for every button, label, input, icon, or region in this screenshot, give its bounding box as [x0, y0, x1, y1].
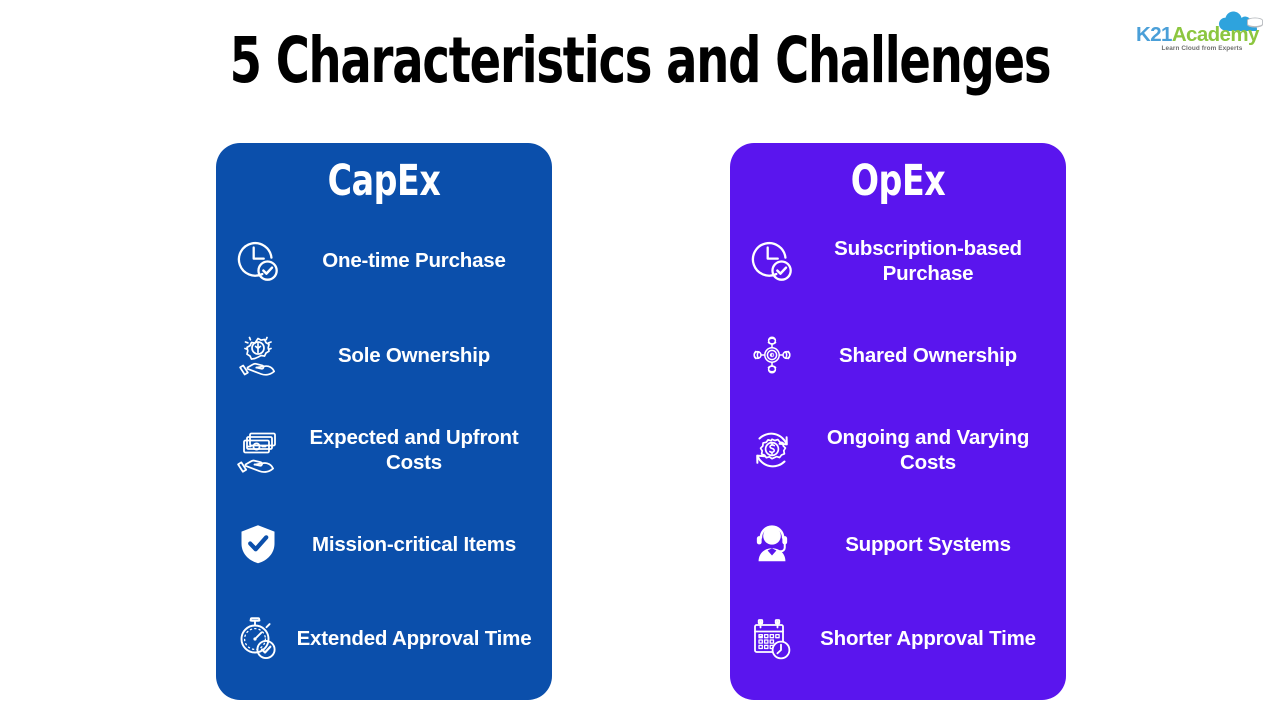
clock-check-icon: [746, 235, 798, 287]
hand-money-icon: [232, 424, 284, 476]
feature-label: One-time Purchase: [296, 248, 536, 273]
feature-row: One-time Purchase: [232, 233, 536, 289]
feature-label: Shared Ownership: [810, 343, 1050, 368]
feature-label: Extended Approval Time: [296, 626, 536, 651]
feature-label: Mission-critical Items: [296, 532, 536, 557]
share-network-icon: [746, 329, 798, 381]
card-opex: OpEx Subscription-based Purchase: [730, 143, 1066, 700]
feature-row: Support Systems: [746, 516, 1050, 572]
feature-row: Shorter Approval Time: [746, 611, 1050, 667]
support-agent-icon: [746, 518, 798, 570]
recurring-cost-icon: [746, 424, 798, 476]
feature-label: Expected and Upfront Costs: [296, 425, 536, 475]
card-capex: CapEx One-time Purchase: [216, 143, 552, 700]
feature-label: Sole Ownership: [296, 343, 536, 368]
feature-label: Support Systems: [810, 532, 1050, 557]
feature-label: Ongoing and Varying Costs: [810, 425, 1050, 475]
clock-check-icon: [232, 235, 284, 287]
feature-label: Subscription-based Purchase: [810, 236, 1050, 286]
opex-feature-list: Subscription-based Purchase: [742, 211, 1054, 700]
feature-row: Extended Approval Time: [232, 611, 536, 667]
feature-label: Shorter Approval Time: [810, 626, 1050, 651]
feature-row: Sole Ownership: [232, 327, 536, 383]
card-capex-title: CapEx: [250, 158, 518, 205]
calendar-clock-icon: [746, 613, 798, 665]
feature-row: Mission-critical Items: [232, 516, 536, 572]
feature-row: Ongoing and Varying Costs: [746, 422, 1050, 478]
page-title: 5 Characteristics and Challenges: [115, 28, 1165, 94]
logo-name-part2: Academy: [1172, 23, 1259, 46]
feature-row: Subscription-based Purchase: [746, 233, 1050, 289]
feature-row: Expected and Upfront Costs: [232, 422, 536, 478]
capex-feature-list: One-time Purchase Sole Ownership: [228, 211, 540, 700]
feature-row: Shared Ownership: [746, 327, 1050, 383]
shield-check-icon: [232, 518, 284, 570]
hand-badge-icon: [232, 329, 284, 381]
card-opex-title: OpEx: [764, 158, 1032, 205]
stopwatch-check-icon: [232, 613, 284, 665]
